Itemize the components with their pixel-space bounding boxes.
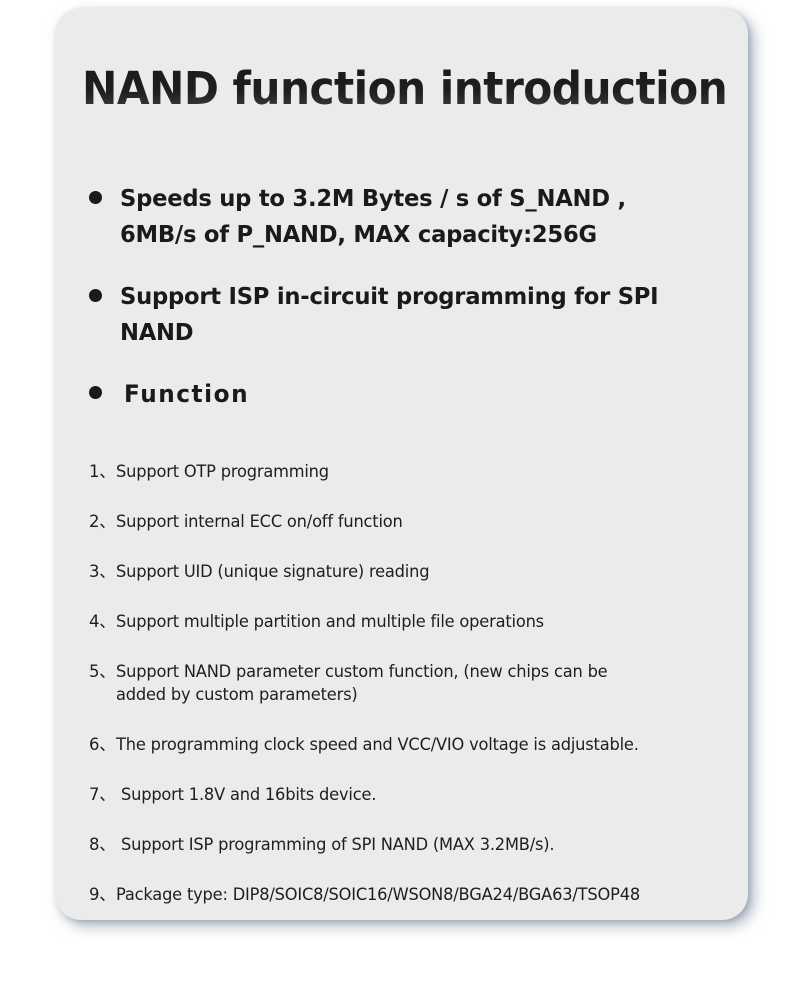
list-item-text: Package type: DIP8/SOIC8/SOIC16/WSON8/BG… bbox=[116, 883, 640, 906]
list-item-number: 9、 bbox=[89, 883, 116, 906]
list-item-text: Support UID (unique signature) reading bbox=[116, 560, 429, 583]
list-item-number: 4、 bbox=[89, 610, 116, 633]
list-item-text: Support OTP programming bbox=[116, 460, 329, 483]
list-item: 7、 Support 1.8V and 16bits device. bbox=[89, 783, 729, 806]
list-item-number: 3、 bbox=[89, 560, 116, 583]
list-item: 9、 Package type: DIP8/SOIC8/SOIC16/WSON8… bbox=[89, 883, 729, 906]
function-numbered-list: 1、 Support OTP programming 2、 Support in… bbox=[89, 460, 729, 920]
list-item-number: 6、 bbox=[89, 733, 116, 756]
round-bullet-icon bbox=[89, 289, 102, 302]
list-item-number: 8、 bbox=[89, 833, 116, 856]
list-item-text: Support ISP programming of SPI NAND (MAX… bbox=[116, 833, 554, 856]
list-item-text: The programming clock speed and VCC/VIO … bbox=[116, 733, 639, 756]
list-item: 4、 Support multiple partition and multip… bbox=[89, 610, 729, 633]
list-item-number: 2、 bbox=[89, 510, 116, 533]
list-item-number: 5、 bbox=[89, 660, 116, 683]
list-item: 8、 Support ISP programming of SPI NAND (… bbox=[89, 833, 729, 856]
list-item-number: 7、 bbox=[89, 783, 116, 806]
list-item-text: Support 1.8V and 16bits device. bbox=[116, 783, 376, 806]
list-item-text: Support NAND parameter custom function, … bbox=[116, 660, 607, 706]
list-item: 2、 Support internal ECC on/off function bbox=[89, 510, 729, 533]
list-item: 6、 The programming clock speed and VCC/V… bbox=[89, 733, 729, 756]
list-item: 5、 Support NAND parameter custom functio… bbox=[89, 660, 729, 706]
feature-bullet-label: Support ISP in-circuit programming for S… bbox=[120, 278, 708, 350]
list-item: 1、 Support OTP programming bbox=[89, 460, 729, 483]
feature-bullet-item: Speeds up to 3.2M Bytes / s of S_NAND , … bbox=[89, 180, 729, 252]
function-section-heading: Function bbox=[89, 376, 729, 412]
list-item-text: Support multiple partition and multiple … bbox=[116, 610, 544, 633]
list-item: 3、 Support UID (unique signature) readin… bbox=[89, 560, 729, 583]
feature-bullet-label: Speeds up to 3.2M Bytes / s of S_NAND , … bbox=[120, 180, 708, 252]
round-bullet-icon bbox=[89, 386, 102, 399]
feature-bullet-list: Speeds up to 3.2M Bytes / s of S_NAND , … bbox=[89, 180, 729, 424]
round-bullet-icon bbox=[89, 191, 102, 204]
function-heading-label: Function bbox=[124, 376, 249, 412]
page-title: NAND function introduction bbox=[82, 62, 727, 116]
feature-bullet-item: Support ISP in-circuit programming for S… bbox=[89, 278, 729, 350]
nand-feature-card: NAND function introduction Speeds up to … bbox=[55, 8, 748, 920]
list-item-number: 1、 bbox=[89, 460, 116, 483]
list-item-text: Support internal ECC on/off function bbox=[116, 510, 403, 533]
